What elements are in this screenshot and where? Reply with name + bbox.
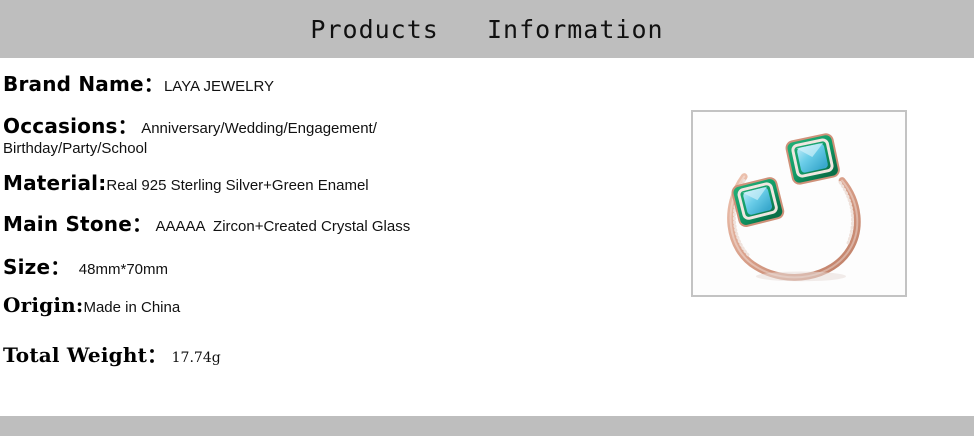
product-image-frame bbox=[691, 110, 907, 297]
page-title: Products Information bbox=[0, 0, 974, 58]
spec-row-size: Size： 48mm*70mm bbox=[3, 237, 663, 280]
spec-label-main-stone: Main Stone： bbox=[3, 212, 152, 236]
spec-value-brand-name: LAYA JEWELRY bbox=[164, 78, 274, 95]
spec-value-total-weight: 17.74g bbox=[167, 350, 221, 366]
spec-row-occasions: Occasions： Anniversary/Wedding/Engagemen… bbox=[3, 97, 663, 160]
spec-label-size: Size： bbox=[3, 255, 70, 279]
spec-label-total-weight: Total Weight： bbox=[3, 343, 167, 367]
spec-label-occasions: Occasions： bbox=[3, 114, 138, 138]
spec-value-material: Real 925 Sterling Silver+Green Enamel bbox=[106, 177, 368, 194]
spec-value-main-stone: AAAAA Zircon+Created Crystal Glass bbox=[152, 218, 410, 235]
spec-label-brand-name: Brand Name： bbox=[3, 72, 164, 96]
spec-row-brand-name: Brand Name：LAYA JEWELRY bbox=[3, 62, 663, 97]
spec-row-material: Material:Real 925 Sterling Silver+Green … bbox=[3, 160, 663, 195]
spec-row-total-weight: Total Weight： 17.74g bbox=[3, 317, 663, 368]
spec-label-origin: Origin: bbox=[3, 293, 83, 317]
spec-row-origin: Origin:Made in China bbox=[3, 280, 663, 317]
footer-bar bbox=[0, 416, 974, 436]
product-spec-list: Brand Name：LAYA JEWELRY Occasions： Anniv… bbox=[3, 62, 663, 368]
spec-label-material: Material: bbox=[3, 171, 106, 195]
spec-row-main-stone: Main Stone： AAAAA Zircon+Created Crystal… bbox=[3, 195, 663, 237]
spec-value-origin: Made in China bbox=[83, 299, 180, 316]
spec-value-size: 48mm*70mm bbox=[70, 261, 168, 278]
product-bangle-illustration bbox=[693, 112, 905, 295]
